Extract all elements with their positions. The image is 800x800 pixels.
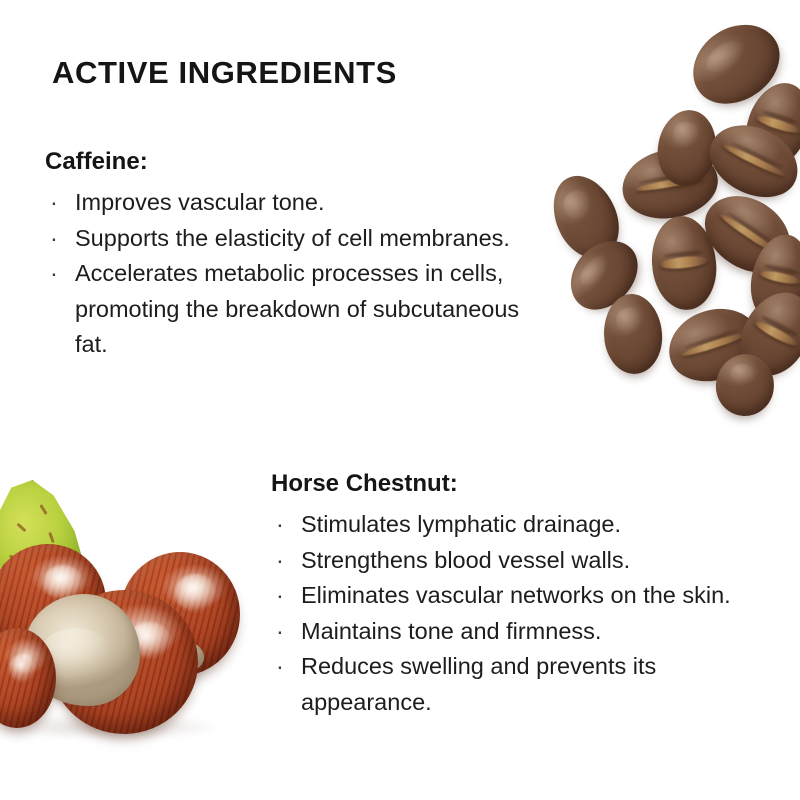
bullet-dot-icon: ·: [276, 649, 284, 685]
bullet-dot-icon: ·: [50, 185, 58, 221]
husk-spike-icon: [4, 472, 11, 485]
husk-fleck: [39, 504, 47, 515]
list-item: · Strengthens blood vessel walls.: [271, 543, 771, 579]
list-item: · Supports the elasticity of cell membra…: [45, 221, 555, 257]
section-heading-caffeine: Caffeine:: [45, 148, 565, 176]
section-horse-chestnut: Horse Chestnut: · Stimulates lymphatic d…: [271, 470, 771, 720]
list-item: · Stimulates lymphatic drainage.: [271, 507, 771, 543]
section-caffeine: Caffeine: · Improves vascular tone. · Su…: [45, 148, 565, 363]
husk-spike-icon: [32, 468, 35, 481]
nut-gloss: [175, 574, 216, 611]
bullet-dot-icon: ·: [276, 614, 284, 650]
list-item-label: Improves vascular tone.: [75, 189, 324, 215]
coffee-beans-image: [552, 28, 800, 400]
list-item: · Accelerates metabolic processes in cel…: [45, 256, 555, 363]
ingredients-slide: ACTIVE INGREDIENTS Caffeine: · Improves …: [0, 0, 800, 800]
husk-spike-icon: [56, 477, 64, 490]
list-item: · Eliminates vascular networks on the sk…: [271, 578, 771, 614]
husk-fleck: [16, 523, 26, 533]
bullet-dot-icon: ·: [276, 578, 284, 614]
list-item: · Improves vascular tone.: [45, 185, 555, 221]
list-item-label: Maintains tone and firmness.: [301, 618, 601, 644]
caffeine-benefit-list: · Improves vascular tone. · Supports the…: [45, 185, 565, 363]
list-item: · Maintains tone and firmness.: [271, 614, 771, 650]
list-item-label: Accelerates metabolic processes in cells…: [75, 260, 519, 357]
husk-fleck: [48, 532, 55, 543]
nut-gloss: [9, 654, 36, 682]
bullet-dot-icon: ·: [276, 507, 284, 543]
list-item-label: Eliminates vascular networks on the skin…: [301, 582, 731, 608]
bullet-dot-icon: ·: [276, 543, 284, 579]
list-item-label: Strengthens blood vessel walls.: [301, 547, 630, 573]
list-item-label: Stimulates lymphatic drainage.: [301, 511, 621, 537]
husk-spike-icon: [0, 485, 1, 497]
list-item: · Reduces swelling and prevents its appe…: [271, 649, 771, 720]
list-item-label: Reduces swelling and prevents its appear…: [301, 653, 656, 715]
page-title: ACTIVE INGREDIENTS: [52, 55, 397, 91]
bullet-dot-icon: ·: [50, 256, 58, 292]
horse-chestnuts-image: [0, 478, 244, 746]
husk-spike-icon: [18, 469, 23, 482]
list-item-label: Supports the elasticity of cell membrane…: [75, 225, 510, 251]
horse-chestnut-benefit-list: · Stimulates lymphatic drainage. · Stren…: [271, 507, 771, 720]
bullet-dot-icon: ·: [50, 221, 58, 257]
husk-spike-icon: [44, 470, 50, 483]
section-heading-horse-chestnut: Horse Chestnut:: [271, 470, 771, 498]
